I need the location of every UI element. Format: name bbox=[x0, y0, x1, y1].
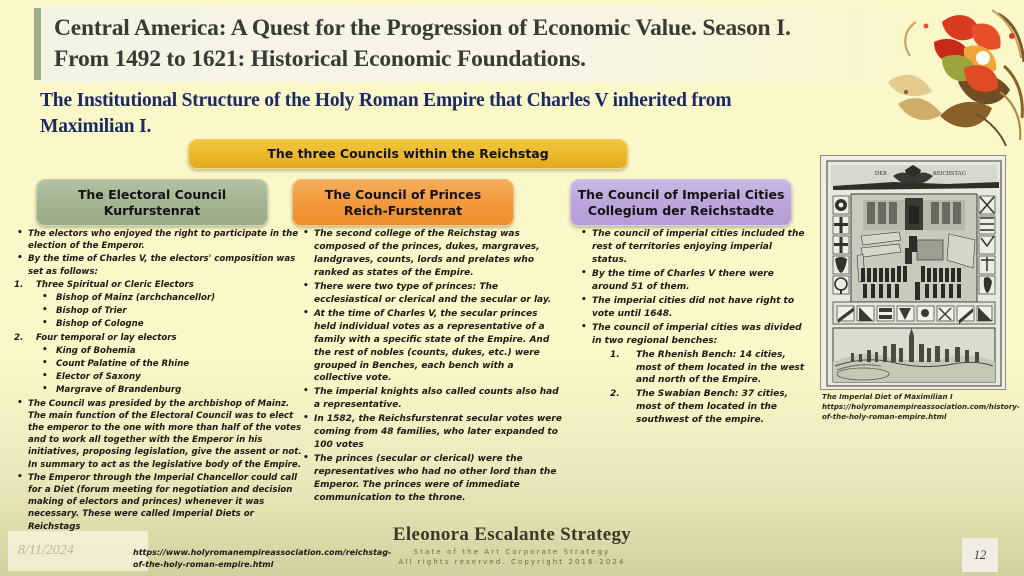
council-header-imperial-cities: The Council of Imperial Cities Collegium… bbox=[570, 179, 792, 226]
bullet-text: The second college of the Reichstag was … bbox=[314, 229, 540, 278]
sub-numbered-list: The Rhenish Bench: 14 cities, most of th… bbox=[610, 349, 806, 428]
brand-footer: Eleonora Escalante Strategy State of the… bbox=[0, 524, 1024, 566]
bullet-text: Three Spiritual or Cleric Electors bbox=[36, 280, 194, 290]
page-number: 12 bbox=[962, 538, 998, 572]
bullet-text: By the time of Charles V, the electors' … bbox=[28, 254, 295, 276]
bullet-text: The electors who enjoyed the right to pa… bbox=[28, 229, 298, 251]
figure-caption: The Imperial Diet of Maximilian I https:… bbox=[822, 392, 1010, 422]
bullet-item: In 1582, the Reichsfurstenrat secular vo… bbox=[300, 413, 562, 452]
sub-bullet-list: Bishop of Mainz (archchancellor)Bishop o… bbox=[36, 292, 302, 331]
figure-caption-title: The Imperial Diet of Maximilian I bbox=[822, 392, 1010, 402]
svg-text:REICHSTAG: REICHSTAG bbox=[933, 171, 967, 177]
svg-text:DER: DER bbox=[875, 171, 887, 177]
bullet-text: Four temporal or lay electors bbox=[36, 333, 177, 343]
council-body-electoral: The electors who enjoyed the right to pa… bbox=[14, 228, 302, 534]
bullet-item: At the time of Charles V, the secular pr… bbox=[300, 308, 562, 386]
sub-bullet-item: Count Palatine of the Rhine bbox=[36, 358, 302, 370]
bullet-text: The princes (secular or clerical) were t… bbox=[314, 454, 556, 503]
bullet-text: There were two type of princes: The eccl… bbox=[314, 282, 551, 305]
brand-name: Eleonora Escalante Strategy bbox=[0, 524, 1024, 546]
sub-numbered-item: The Swabian Bench: 37 cities, most of th… bbox=[610, 388, 806, 427]
bullet-item: By the time of Charles V there were arou… bbox=[578, 268, 806, 294]
council-header-princes: The Council of Princes Reich-Furstenrat bbox=[292, 179, 514, 226]
bullet-item: The electors who enjoyed the right to pa… bbox=[14, 228, 302, 252]
bullet-item: By the time of Charles V, the electors' … bbox=[14, 253, 302, 277]
sub-bullet-item: Bishop of Trier bbox=[36, 305, 302, 317]
bullet-item: The princes (secular or clerical) were t… bbox=[300, 453, 562, 505]
bullet-text: In 1582, the Reichsfurstenrat secular vo… bbox=[314, 414, 562, 450]
bullet-item: The imperial cities did not have right t… bbox=[578, 295, 806, 321]
bullet-text: The imperial knights also called counts … bbox=[314, 387, 559, 410]
bullet-text: The Council was presided by the archbish… bbox=[28, 399, 302, 470]
bullet-list: The electors who enjoyed the right to pa… bbox=[14, 228, 302, 533]
council-header-princes-text: The Council of Princes Reich-Furstenrat bbox=[325, 187, 481, 218]
page-title: Central America: A Quest for the Progres… bbox=[34, 13, 791, 75]
title-band: Central America: A Quest for the Progres… bbox=[34, 6, 934, 82]
engraving-artwork: DER REICHSTAG bbox=[821, 156, 1006, 390]
sub-bullet-item: Bishop of Mainz (archchancellor) bbox=[36, 292, 302, 304]
bullet-text: The council of imperial cities included … bbox=[592, 229, 804, 265]
bullet-list: The second college of the Reichstag was … bbox=[300, 228, 562, 505]
reichstag-banner: The three Councils within the Reichstag bbox=[188, 139, 628, 169]
bullet-item: The council of imperial cities included … bbox=[578, 228, 806, 267]
sub-bullet-item: King of Bohemia bbox=[36, 345, 302, 357]
bullet-list: The council of imperial cities included … bbox=[578, 228, 806, 427]
brand-copyright: All rights reserved. Copyright 2016-2024 bbox=[0, 558, 1024, 566]
bullet-item: There were two type of princes: The eccl… bbox=[300, 281, 562, 307]
bullet-text: The Emperor through the Imperial Chancel… bbox=[28, 473, 297, 532]
sub-bullet-list: King of BohemiaCount Palatine of the Rhi… bbox=[36, 345, 302, 397]
bullet-item: The second college of the Reichstag was … bbox=[300, 228, 562, 280]
numbered-item: Four temporal or lay electors bbox=[14, 332, 302, 344]
council-header-electoral-text: The Electoral Council Kurfurstenrat bbox=[78, 187, 226, 218]
numbered-item: Three Spiritual or Cleric Electors bbox=[14, 279, 302, 291]
council-header-imperial-cities-text: The Council of Imperial Cities Collegium… bbox=[578, 187, 785, 218]
title-accent-bar bbox=[34, 8, 41, 80]
bullet-text: At the time of Charles V, the secular pr… bbox=[314, 309, 549, 384]
bullet-item: The Council was presided by the archbish… bbox=[14, 398, 302, 471]
bullet-text: By the time of Charles V there were arou… bbox=[592, 269, 774, 292]
sub-bullet-item: Elector of Saxony bbox=[36, 371, 302, 383]
bullet-item: The council of imperial cities was divid… bbox=[578, 322, 806, 348]
imperial-diet-engraving: DER REICHSTAG bbox=[820, 155, 1006, 390]
council-body-imperial-cities: The council of imperial cities included … bbox=[578, 228, 806, 428]
bullet-text: The council of imperial cities was divid… bbox=[592, 323, 802, 346]
figure-caption-url: https://holyromanempireassociation.com/h… bbox=[822, 402, 1010, 422]
sub-bullet-item: Margrave of Brandenburg bbox=[36, 384, 302, 396]
bullet-item: The imperial knights also called counts … bbox=[300, 386, 562, 412]
council-body-princes: The second college of the Reichstag was … bbox=[300, 228, 562, 506]
brand-tagline: State of the Art Corporate Strategy bbox=[0, 548, 1024, 556]
bullet-text: The imperial cities did not have right t… bbox=[592, 296, 794, 319]
council-header-electoral: The Electoral Council Kurfurstenrat bbox=[36, 179, 268, 226]
sub-numbered-item: The Rhenish Bench: 14 cities, most of th… bbox=[610, 349, 806, 388]
sub-bullet-item: Bishop of Cologne bbox=[36, 318, 302, 330]
page-subtitle: The Institutional Structure of the Holy … bbox=[40, 88, 870, 140]
